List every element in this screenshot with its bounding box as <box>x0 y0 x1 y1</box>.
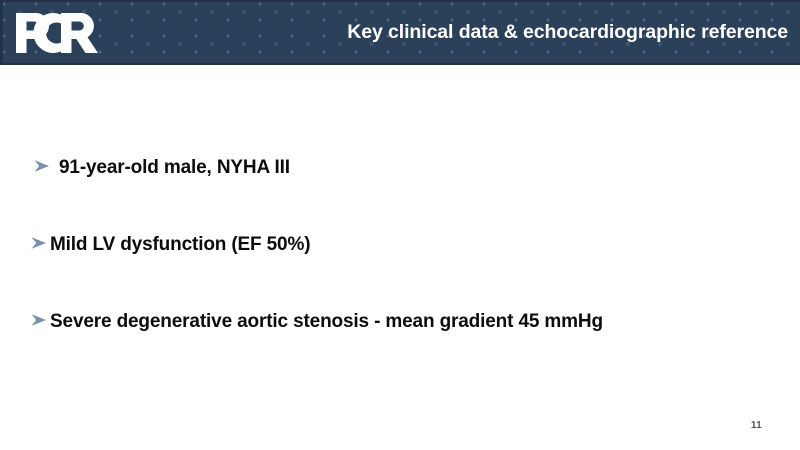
bullet-text-2: Mild LV dysfunction (EF 50%) <box>48 234 310 256</box>
bullet-text-3: Severe degenerative aortic stenosis - me… <box>48 311 603 333</box>
header-left-rule <box>0 0 3 65</box>
slide-title: Key clinical data & echocardiographic re… <box>200 0 788 65</box>
slide: Key clinical data & echocardiographic re… <box>0 0 800 450</box>
bullet-item-1: 91-year-old male, NYHA III <box>33 155 290 179</box>
bullet-text-1: 91-year-old male, NYHA III <box>51 157 290 179</box>
bullet-item-3: Severe degenerative aortic stenosis - me… <box>30 309 603 333</box>
arrowhead-bullet-icon <box>30 311 48 329</box>
slide-body: 91-year-old male, NYHA III Mild LV dysfu… <box>0 65 800 450</box>
arrowhead-bullet-icon <box>30 234 48 252</box>
arrowhead-bullet-icon <box>33 157 51 175</box>
page-number: 11 <box>751 420 762 431</box>
bullet-item-2: Mild LV dysfunction (EF 50%) <box>30 232 310 256</box>
pcr-logo <box>14 11 124 55</box>
